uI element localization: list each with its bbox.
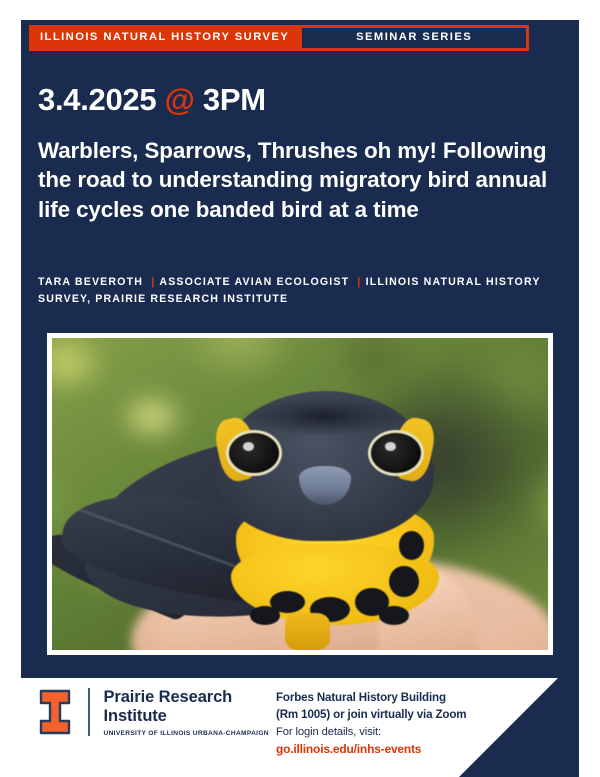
speaker-role: ASSOCIATE AVIAN ECOLOGIST bbox=[159, 276, 349, 288]
banner-org-label: ILLINOIS NATURAL HISTORY SURVEY bbox=[40, 32, 289, 43]
speaker-name: TARA BEVEROTH bbox=[38, 276, 143, 288]
pri-name-line-1: Prairie Research bbox=[104, 688, 269, 707]
pri-logo-group: Prairie Research Institute UNIVERSITY OF… bbox=[38, 688, 269, 737]
seminar-banner: ILLINOIS NATURAL HISTORY SURVEY SEMINAR … bbox=[29, 25, 529, 51]
banner-series-label: SEMINAR SERIES bbox=[356, 32, 472, 43]
canada-warbler bbox=[52, 338, 548, 650]
bird-beak bbox=[299, 466, 351, 505]
pri-logo-text: Prairie Research Institute UNIVERSITY OF… bbox=[104, 688, 269, 737]
banner-org-block: ILLINOIS NATURAL HISTORY SURVEY bbox=[29, 25, 301, 51]
warbler-photo bbox=[52, 338, 548, 650]
necklace-spot bbox=[379, 606, 409, 625]
logo-divider bbox=[88, 688, 90, 736]
necklace-spot bbox=[250, 606, 280, 625]
at-symbol: @ bbox=[165, 82, 195, 117]
bird-head bbox=[216, 391, 434, 541]
event-date: 3.4.2025 bbox=[38, 82, 156, 117]
seminar-poster: ILLINOIS NATURAL HISTORY SURVEY SEMINAR … bbox=[0, 0, 600, 777]
pri-name-line-2: Institute bbox=[104, 707, 269, 726]
event-datetime: 3.4.2025 @ 3PM bbox=[38, 83, 266, 117]
bird-legs bbox=[285, 613, 330, 650]
illinois-block-i-icon bbox=[38, 688, 72, 736]
bird-eye-right bbox=[371, 433, 421, 473]
pri-university-line: UNIVERSITY OF ILLINOIS URBANA-CHAMPAIGN bbox=[104, 730, 269, 737]
bird-crown bbox=[246, 397, 403, 436]
talk-title: Warblers, Sparrows, Thrushes oh my! Foll… bbox=[38, 136, 568, 224]
event-time: 3PM bbox=[203, 82, 266, 117]
speaker-photo-frame bbox=[47, 333, 553, 655]
bird-eye-left bbox=[229, 433, 279, 473]
speaker-credit: TARA BEVEROTH | ASSOCIATE AVIAN ECOLOGIS… bbox=[38, 274, 558, 308]
necklace-spot bbox=[389, 566, 419, 597]
necklace-spot bbox=[399, 531, 424, 559]
banner-series-block: SEMINAR SERIES bbox=[301, 27, 527, 49]
venue-building: Forbes Natural History Building bbox=[276, 689, 566, 706]
